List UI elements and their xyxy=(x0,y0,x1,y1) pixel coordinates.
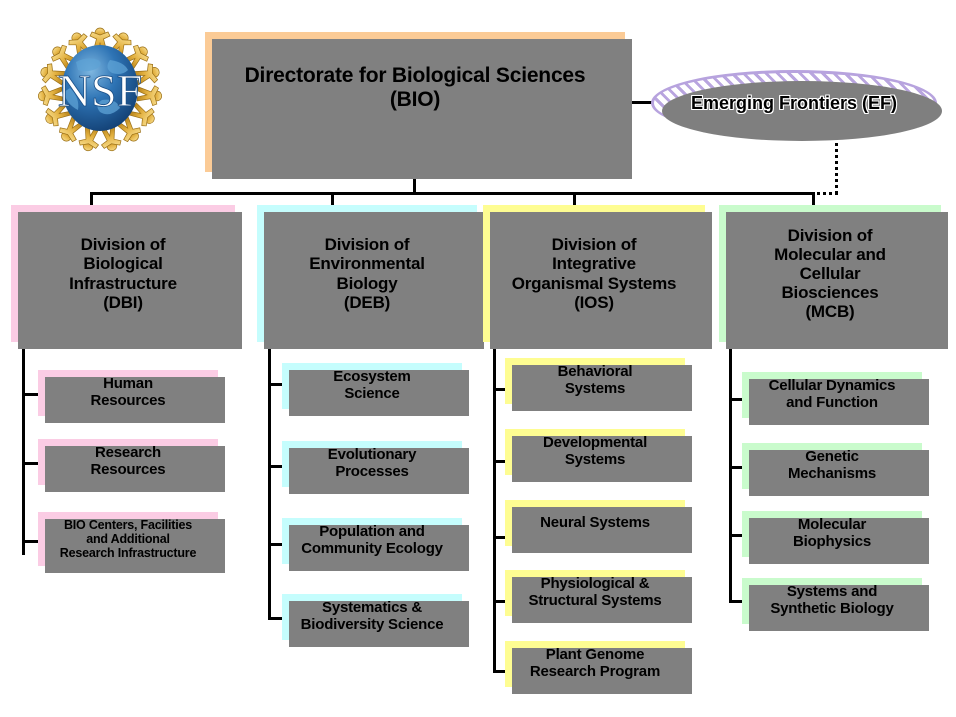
division-box-ios-label: Division of Integrative Organismal Syste… xyxy=(487,235,701,311)
ellipse-emerging-frontiers-label: Emerging Frontiers (EF) xyxy=(691,93,897,114)
connector-spine-dbi xyxy=(22,345,25,555)
root-box-bio[interactable]: Directorate for Biological Sciences (BIO… xyxy=(205,32,625,172)
program-box-cellular-dynamics-function-label: Cellular Dynamics and Function xyxy=(746,378,918,412)
program-box-developmental-systems[interactable]: Developmental Systems xyxy=(505,429,685,475)
program-box-developmental-systems-label: Developmental Systems xyxy=(509,435,681,469)
program-box-bio-centers-facilities[interactable]: BIO Centers, Facilities and Additional R… xyxy=(38,512,218,566)
program-box-physiological-structural-systems-label: Physiological & Structural Systems xyxy=(509,576,681,610)
connector-trunk-horizontal xyxy=(90,192,815,195)
connector-spine-mcb xyxy=(729,345,732,603)
program-box-molecular-biophysics-label: Molecular Biophysics xyxy=(746,517,918,551)
program-box-systems-synthetic-biology[interactable]: Systems and Synthetic Biology xyxy=(742,578,922,624)
program-box-human-resources-label: Human Resources xyxy=(42,376,214,410)
program-box-molecular-biophysics[interactable]: Molecular Biophysics xyxy=(742,511,922,557)
program-box-ecosystem-science-label: Ecosystem Science xyxy=(286,369,458,403)
program-box-evolutionary-processes[interactable]: Evolutionary Processes xyxy=(282,441,462,487)
ellipse-emerging-frontiers[interactable]: Emerging Frontiers (EF) xyxy=(651,70,937,136)
program-box-systematics-biodiversity-label: Systematics & Biodiversity Science xyxy=(286,600,458,634)
program-box-neural-systems[interactable]: Neural Systems xyxy=(505,500,685,546)
program-box-population-community-ecology[interactable]: Population and Community Ecology xyxy=(282,518,462,564)
program-box-behavioral-systems-label: Behavioral Systems xyxy=(509,364,681,398)
program-box-behavioral-systems[interactable]: Behavioral Systems xyxy=(505,358,685,404)
division-box-dbi-label: Division of Biological Infrastructure (D… xyxy=(15,235,231,311)
program-box-cellular-dynamics-function[interactable]: Cellular Dynamics and Function xyxy=(742,372,922,418)
program-box-genetic-mechanisms[interactable]: Genetic Mechanisms xyxy=(742,443,922,489)
program-box-systematics-biodiversity[interactable]: Systematics & Biodiversity Science xyxy=(282,594,462,640)
division-box-mcb-label: Division of Molecular and Cellular Biosc… xyxy=(723,226,937,321)
program-box-plant-genome-research[interactable]: Plant Genome Research Program xyxy=(505,641,685,687)
connector-ef-dotted-horizontal xyxy=(812,192,838,195)
program-box-neural-systems-label: Neural Systems xyxy=(509,515,681,532)
program-box-human-resources[interactable]: Human Resources xyxy=(38,370,218,416)
org-chart: NSF Directorate for Biological Sciences … xyxy=(0,0,956,717)
program-box-bio-centers-facilities-label: BIO Centers, Facilities and Additional R… xyxy=(42,518,214,560)
division-box-ios[interactable]: Division of Integrative Organismal Syste… xyxy=(483,205,705,342)
connector-spine-ios xyxy=(493,345,496,673)
program-box-systems-synthetic-biology-label: Systems and Synthetic Biology xyxy=(746,584,918,618)
division-box-dbi[interactable]: Division of Biological Infrastructure (D… xyxy=(11,205,235,342)
program-box-research-resources-label: Research Resources xyxy=(42,445,214,479)
nsf-logo-text: NSF xyxy=(58,65,142,116)
division-box-deb[interactable]: Division of Environmental Biology (DEB) xyxy=(257,205,477,342)
connector-ef-dotted-vertical xyxy=(835,136,838,194)
connector-spine-deb xyxy=(268,345,271,620)
program-box-evolutionary-processes-label: Evolutionary Processes xyxy=(286,447,458,481)
program-box-genetic-mechanisms-label: Genetic Mechanisms xyxy=(746,449,918,483)
nsf-logo: NSF xyxy=(36,26,164,154)
root-box-bio-label: Directorate for Biological Sciences (BIO… xyxy=(209,64,621,111)
program-box-plant-genome-research-label: Plant Genome Research Program xyxy=(509,647,681,681)
nsf-logo-icon: NSF xyxy=(36,26,164,154)
program-box-research-resources[interactable]: Research Resources xyxy=(38,439,218,485)
program-box-physiological-structural-systems[interactable]: Physiological & Structural Systems xyxy=(505,570,685,616)
division-box-deb-label: Division of Environmental Biology (DEB) xyxy=(261,235,473,311)
program-box-ecosystem-science[interactable]: Ecosystem Science xyxy=(282,363,462,409)
program-box-population-community-ecology-label: Population and Community Ecology xyxy=(286,524,458,558)
division-box-mcb[interactable]: Division of Molecular and Cellular Biosc… xyxy=(719,205,941,342)
